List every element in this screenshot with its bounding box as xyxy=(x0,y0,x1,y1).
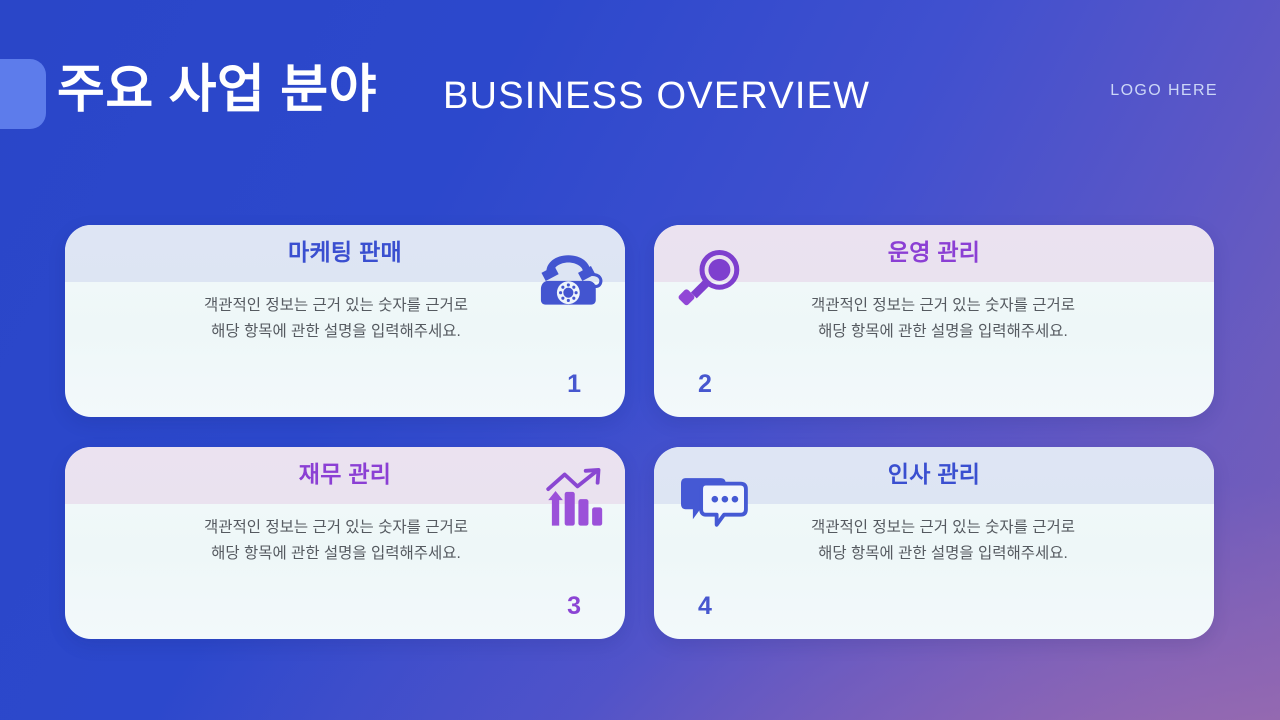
card-number: 2 xyxy=(698,370,712,399)
card-description: 객관적인 정보는 근거 있는 숫자를 근거로 해당 항목에 관한 설명을 입력해… xyxy=(654,515,1214,567)
card-description: 객관적인 정보는 근거 있는 숫자를 근거로 해당 항목에 관한 설명을 입력해… xyxy=(654,293,1214,345)
card-number: 3 xyxy=(567,592,581,621)
card-description: 객관적인 정보는 근거 있는 숫자를 근거로 해당 항목에 관한 설명을 입력해… xyxy=(65,515,625,567)
card-operations-management[interactable]: 운영 관리 객관적인 정보는 근거 있는 숫자를 근거로 해당 항목에 관한 설… xyxy=(654,225,1214,417)
card-hr-management[interactable]: 인사 관리 객관적인 정보는 근거 있는 숫자를 근거로 해당 항목에 관한 설… xyxy=(654,447,1214,639)
card-number: 1 xyxy=(567,370,581,399)
card-marketing-sales[interactable]: 마케팅 판매 xyxy=(65,225,625,417)
slide-canvas: 주요 사업 분야 BUSINESS OVERVIEW LOGO HERE 마케팅… xyxy=(0,0,1280,720)
page-title-english: BUSINESS OVERVIEW xyxy=(443,60,870,132)
slide-header: 주요 사업 분야 BUSINESS OVERVIEW LOGO HERE xyxy=(0,54,1280,144)
cards-grid: 마케팅 판매 xyxy=(65,225,1215,639)
card-number: 4 xyxy=(698,592,712,621)
page-title-korean: 주요 사업 분야 xyxy=(57,54,377,126)
card-finance-management[interactable]: 재무 관리 객관적인 정보는 근거 있는 숫자를 근거로 해당 항목에 관한 설… xyxy=(65,447,625,639)
card-description: 객관적인 정보는 근거 있는 숫자를 근거로 해당 항목에 관한 설명을 입력해… xyxy=(65,293,625,345)
logo-placeholder: LOGO HERE xyxy=(1110,74,1218,108)
title-accent-block xyxy=(0,59,46,129)
